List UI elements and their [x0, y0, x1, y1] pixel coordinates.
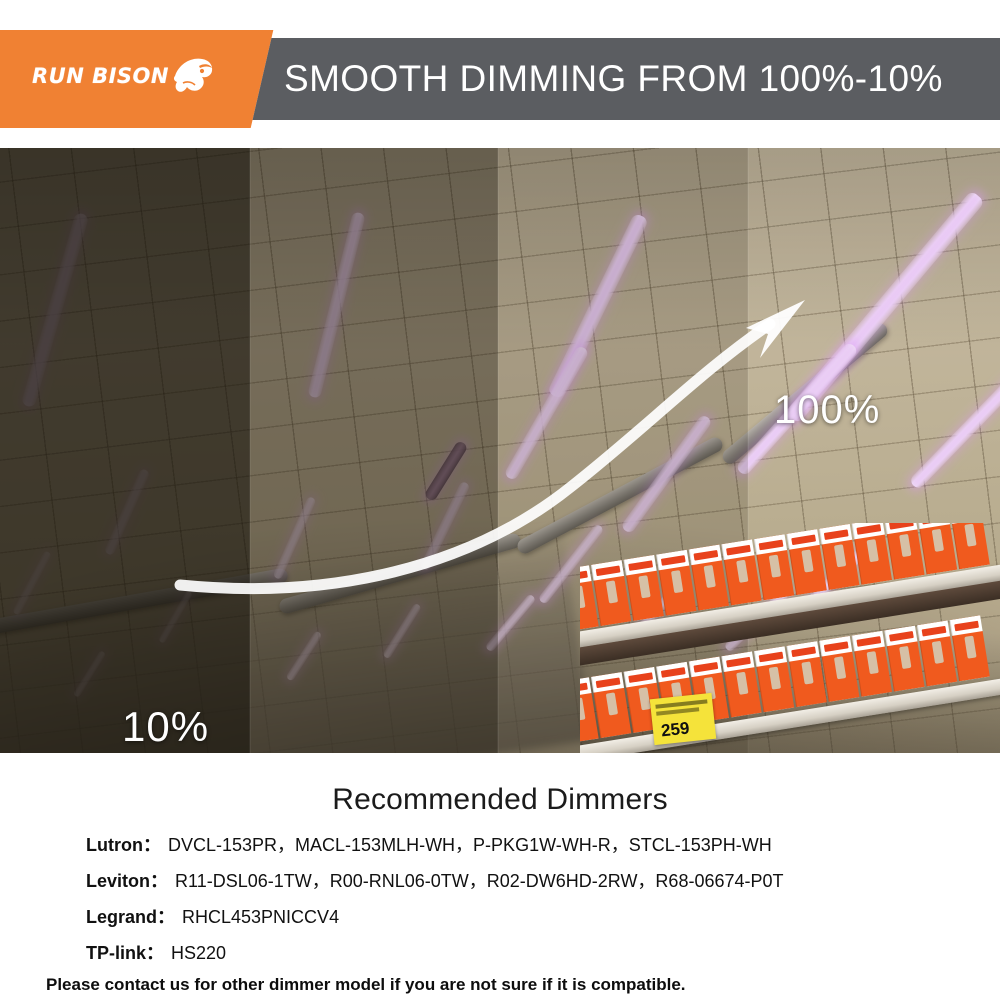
dimmer-row-tplink: TP-link： HS220 [40, 939, 960, 965]
bison-head-icon [169, 56, 213, 96]
dimmer-brand: Legrand： [86, 903, 175, 929]
compatibility-note: Please contact us for other dimmer model… [0, 975, 1000, 995]
label-100-percent: 100% [774, 388, 880, 433]
banner-title: SMOOTH DIMMING FROM 100%-10% [284, 58, 943, 100]
dimmer-models: R11-DSL06-1TW，R00-RNL06-0TW，R02-DW6HD-2R… [175, 867, 784, 893]
dimmer-list: Lutron： DVCL-153PR，MACL-153MLH-WH，P-PKG1… [0, 831, 1000, 965]
curved-up-arrow-icon [0, 148, 1000, 753]
dimmer-row-legrand: Legrand： RHCL453PNICCV4 [40, 903, 960, 929]
header: RUN BISON SMOOTH DIMMING FROM 100%-10% [0, 0, 1000, 148]
dimmer-row-lutron: Lutron： DVCL-153PR，MACL-153MLH-WH，P-PKG1… [40, 831, 960, 857]
dimmer-brand: Lutron： [86, 831, 161, 857]
dimmer-models: RHCL453PNICCV4 [182, 907, 339, 928]
brand-name: RUN BISON [32, 64, 169, 88]
product-infographic: RUN BISON SMOOTH DIMMING FROM 100%-10% [0, 0, 1000, 1000]
banner-block: SMOOTH DIMMING FROM 100%-10% [253, 38, 1000, 120]
dimmer-models: DVCL-153PR，MACL-153MLH-WH，P-PKG1W-WH-R，S… [168, 831, 772, 857]
dimming-photo: 259 10% 100% [0, 148, 1000, 753]
ceiling-scene: 259 10% 100% [0, 148, 1000, 753]
brand-logo: RUN BISON [32, 56, 213, 96]
brand-block: RUN BISON [0, 30, 273, 128]
dimmer-models: HS220 [171, 943, 226, 964]
label-10-percent: 10% [122, 703, 209, 751]
footer: Recommended Dimmers Lutron： DVCL-153PR，M… [0, 753, 1000, 1000]
dimmer-brand: Leviton： [86, 867, 168, 893]
dimmer-row-leviton: Leviton： R11-DSL06-1TW，R00-RNL06-0TW，R02… [40, 867, 960, 893]
recommended-dimmers-title: Recommended Dimmers [0, 783, 1000, 817]
dimmer-brand: TP-link： [86, 939, 164, 965]
